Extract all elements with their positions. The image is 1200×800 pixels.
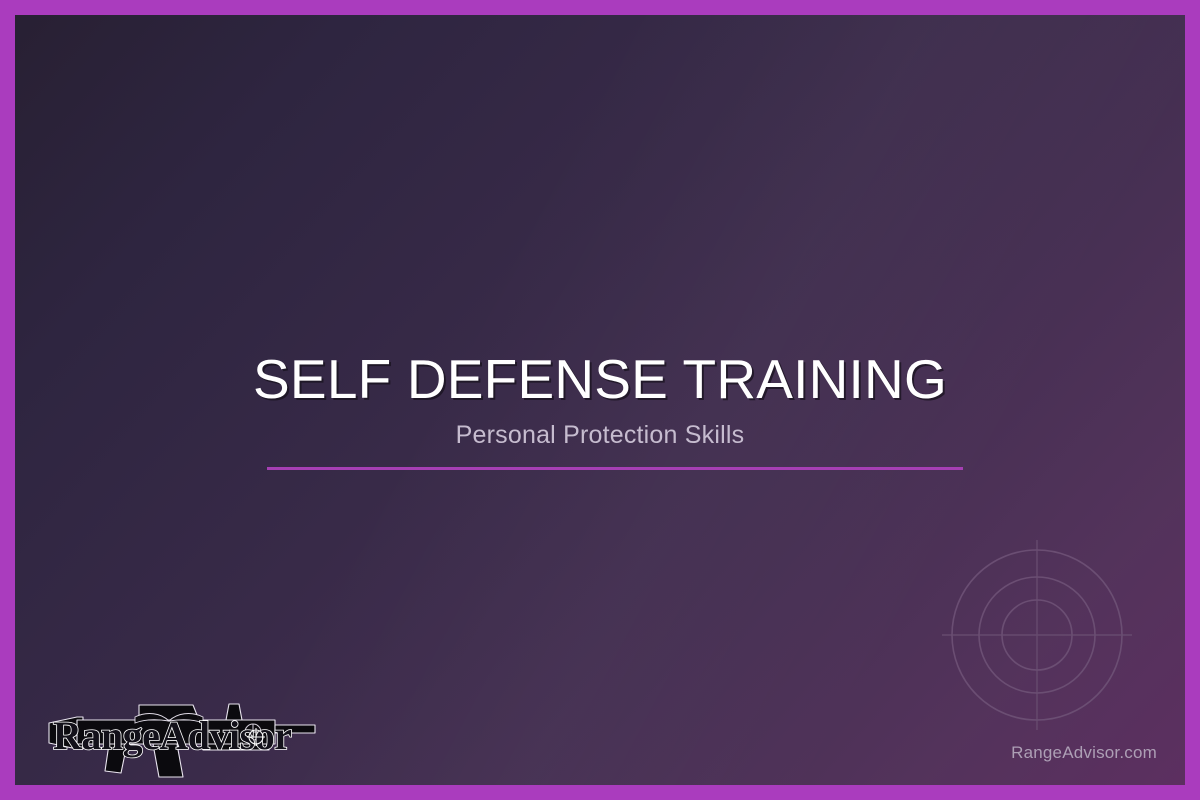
presentation-slide: SELF DEFENSE TRAINING Personal Protectio…: [0, 0, 1200, 800]
target-reticle-icon: [937, 535, 1137, 735]
brand-logo: RangeAdvisor: [43, 687, 319, 783]
title-divider: [267, 467, 963, 470]
page-subtitle: Personal Protection Skills: [15, 421, 1185, 450]
title-block: SELF DEFENSE TRAINING Personal Protectio…: [15, 351, 1185, 450]
site-watermark: RangeAdvisor.com: [1011, 743, 1157, 763]
page-title: SELF DEFENSE TRAINING: [15, 351, 1185, 407]
